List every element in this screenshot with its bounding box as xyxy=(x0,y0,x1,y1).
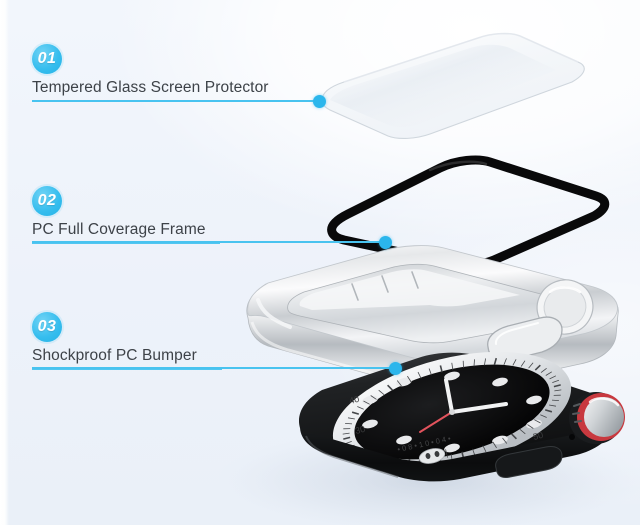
callout-rule-01 xyxy=(32,100,290,102)
callout-02: 02 PC Full Coverage Frame xyxy=(32,186,220,244)
leader-dot-3 xyxy=(389,362,402,375)
callout-label-01: Tempered Glass Screen Protector xyxy=(32,79,290,97)
watch-digital-crown xyxy=(569,392,625,444)
watch-microphone-hole xyxy=(569,434,575,440)
pc-full-coverage-frame xyxy=(332,160,605,265)
callout-label-03: Shockproof PC Bumper xyxy=(32,347,222,365)
leader-dot-2 xyxy=(379,236,392,249)
callout-rule-02 xyxy=(32,242,220,244)
callout-label-02: PC Full Coverage Frame xyxy=(32,221,220,239)
tempered-glass-screen-protector xyxy=(322,34,584,139)
callout-03: 03 Shockproof PC Bumper xyxy=(32,312,222,370)
callout-rule-03 xyxy=(32,368,222,370)
callout-01: 01 Tempered Glass Screen Protector xyxy=(32,44,290,102)
exploded-view-diagram: 40 30 | 50 • 0 8 • 1 0 • 0 4 • xyxy=(0,0,640,525)
badge-number-02: 02 xyxy=(32,186,62,216)
badge-number-03: 03 xyxy=(32,312,62,342)
leader-dot-1 xyxy=(313,95,326,108)
pc-frame-outline xyxy=(332,160,605,265)
badge-number-01: 01 xyxy=(32,44,62,74)
